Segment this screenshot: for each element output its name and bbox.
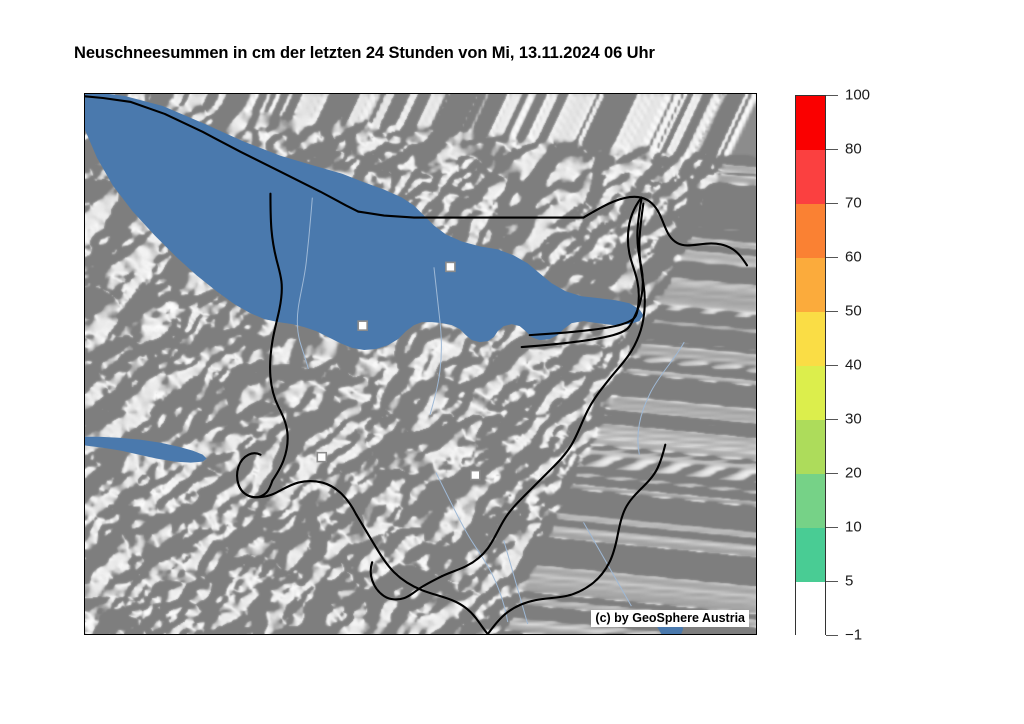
colorbar-label-80: 80 bbox=[845, 141, 862, 158]
colorbar-tick-30 bbox=[826, 419, 838, 420]
colorbar-label-40: 40 bbox=[845, 357, 862, 374]
colorbar-label-20: 20 bbox=[845, 465, 862, 482]
colorbar-tick-60 bbox=[826, 257, 838, 258]
colorbar-label-60: 60 bbox=[845, 249, 862, 266]
colorbar-tick-5 bbox=[826, 581, 838, 582]
colorbar-tick-70 bbox=[826, 203, 838, 204]
colorbar-tick-80 bbox=[826, 149, 838, 150]
map-vector-layer bbox=[85, 94, 756, 634]
page-title: Neuschneesummen in cm der letzten 24 Stu… bbox=[74, 44, 655, 63]
colorbar-tick--1 bbox=[826, 635, 838, 636]
colorbar-band-50-60 bbox=[796, 258, 825, 312]
colorbar-band-70-80 bbox=[796, 150, 825, 204]
station-marker-3[interactable] bbox=[317, 453, 326, 462]
colorbar-label-5: 5 bbox=[845, 573, 853, 590]
river-south bbox=[436, 473, 508, 622]
river-central bbox=[638, 342, 684, 455]
map-panel[interactable]: (c) by GeoSphere Austria bbox=[84, 93, 757, 635]
colorbar-band-30-40 bbox=[796, 366, 825, 420]
colorbar-label-50: 50 bbox=[845, 303, 862, 320]
lake-small-west bbox=[85, 437, 207, 463]
colorbar-band-60-70 bbox=[796, 204, 825, 258]
colorbar-band--1-5 bbox=[796, 582, 825, 636]
colorbar-tick-40 bbox=[826, 365, 838, 366]
colorbar-band-40-50 bbox=[796, 312, 825, 366]
border-south-2 bbox=[356, 514, 488, 634]
colorbar-tick-50 bbox=[826, 311, 838, 312]
colorbar-tick-10 bbox=[826, 527, 838, 528]
water-bodies-group bbox=[85, 94, 683, 634]
border-east-edge bbox=[641, 445, 665, 489]
colorbar-label-30: 30 bbox=[845, 411, 862, 428]
colorbar-band-10-20 bbox=[796, 474, 825, 528]
border-northeast bbox=[584, 197, 748, 266]
colorbar-tick-20 bbox=[826, 473, 838, 474]
colorbar[interactable] bbox=[795, 95, 826, 635]
colorbar-label-10: 10 bbox=[845, 519, 862, 536]
colorbar-band-5-10 bbox=[796, 528, 825, 582]
colorbar-label-70: 70 bbox=[845, 195, 862, 212]
colorbar-label-100: 100 bbox=[845, 87, 870, 104]
border-south-1 bbox=[239, 481, 357, 514]
colorbar-label--1: −1 bbox=[845, 627, 862, 644]
station-marker-1[interactable] bbox=[446, 262, 455, 271]
station-marker-2[interactable] bbox=[358, 321, 367, 330]
lake-main bbox=[85, 94, 643, 350]
colorbar-band-20-30 bbox=[796, 420, 825, 474]
colorbar-band-80-100 bbox=[796, 96, 825, 150]
station-marker-4[interactable] bbox=[471, 471, 480, 480]
map-attribution: (c) by GeoSphere Austria bbox=[591, 610, 749, 627]
colorbar-tick-100 bbox=[826, 95, 838, 96]
